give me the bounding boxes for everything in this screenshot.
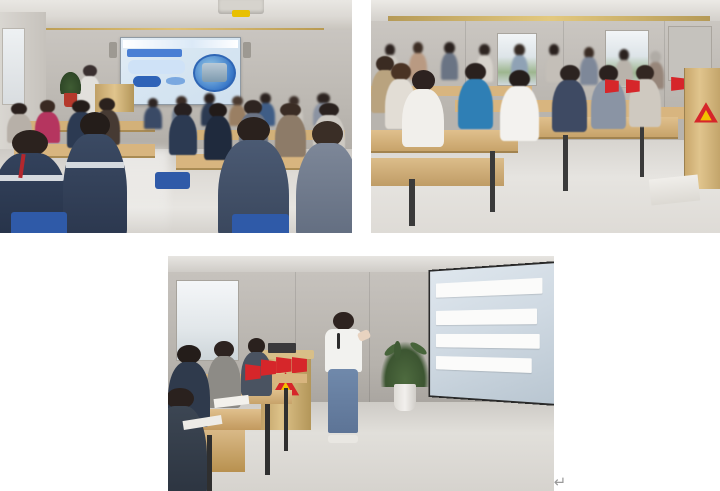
slide-inset-photo (202, 63, 227, 82)
attendee-head (412, 70, 435, 91)
desk-flag (626, 79, 640, 93)
attendee (458, 63, 493, 128)
attendee (500, 70, 538, 140)
attendee-body (500, 86, 538, 141)
desk-flag (605, 79, 619, 93)
wall-speaker-left (109, 42, 117, 58)
slide-bullet-line (436, 278, 543, 298)
desk-row-near (371, 130, 518, 151)
slide-bullet-line (436, 308, 538, 324)
triangle-emblem-icon (693, 99, 719, 126)
attendee-body (144, 107, 162, 129)
floor-paper-pile (649, 175, 700, 206)
desk-flag (276, 357, 291, 373)
chair (11, 212, 67, 233)
wall-panel-seam (664, 21, 665, 114)
desk-leg (563, 135, 568, 191)
wall-speaker-right (243, 42, 251, 58)
slide-blue-label (133, 76, 162, 87)
slide-title-bar (127, 49, 182, 56)
desk-leg (640, 126, 645, 177)
slide-blue-ellipse (166, 77, 185, 84)
attendee-body (63, 134, 126, 233)
attendee-foreground (296, 121, 352, 233)
attendee (144, 98, 162, 128)
attendee-head (465, 63, 486, 81)
desk-leg (284, 388, 289, 451)
photo-classroom-training-wide-view (0, 0, 352, 233)
ceiling (0, 0, 352, 30)
wall-panel-seam (369, 272, 370, 404)
paragraph-return-mark: ↵ (551, 473, 569, 491)
uniform-stripe (0, 175, 64, 180)
chair (155, 172, 190, 188)
attendee-head (99, 98, 115, 111)
attendee-foreground (63, 112, 126, 233)
desk-leg (207, 435, 212, 491)
attendee-body (296, 143, 352, 233)
attendee (591, 65, 626, 128)
attendee-head (11, 103, 27, 115)
speaker-legs (328, 369, 358, 432)
attendee-foreground (402, 70, 444, 145)
plant-pot (394, 384, 416, 411)
slide-bullet-line (436, 333, 540, 348)
speaker-shoes (328, 435, 358, 443)
podium (684, 68, 720, 189)
slide-bullet-line (436, 356, 532, 373)
attendee (169, 103, 197, 154)
desk-front-edge (371, 158, 504, 186)
microphone (337, 333, 340, 349)
attendee-body (169, 115, 197, 154)
photo-speaker-presenting-at-podium (168, 256, 554, 491)
attendee-body (458, 79, 493, 130)
chair (232, 214, 288, 233)
slide-header-bar (123, 40, 238, 48)
attendee-head (40, 100, 56, 113)
desk-leg (490, 151, 495, 212)
uniform-stripe (66, 162, 124, 168)
projection-screen (120, 37, 242, 104)
speaker (322, 312, 364, 439)
speaker-head (333, 312, 353, 330)
projection-screen (429, 261, 554, 406)
slide-circular-graphic (193, 54, 235, 92)
desk-flag (261, 359, 276, 375)
desk-flag (671, 77, 685, 91)
photo-classroom-audience-seated-view (371, 0, 720, 233)
attendee-body (402, 89, 444, 147)
ceiling-projector (218, 0, 264, 14)
attendee-body (552, 80, 587, 132)
desk-flag (292, 357, 307, 373)
desk-leg (409, 179, 414, 226)
slide-speech-bubble (128, 60, 185, 74)
document-page: ↵ (0, 0, 720, 491)
desk-leg (265, 404, 270, 475)
attendee (552, 65, 587, 130)
podium-emblem (693, 99, 719, 126)
attendee (629, 65, 660, 126)
potted-plant (380, 341, 430, 412)
attendee-foreground (168, 388, 207, 491)
window (2, 28, 25, 105)
desk-flag (245, 364, 260, 380)
